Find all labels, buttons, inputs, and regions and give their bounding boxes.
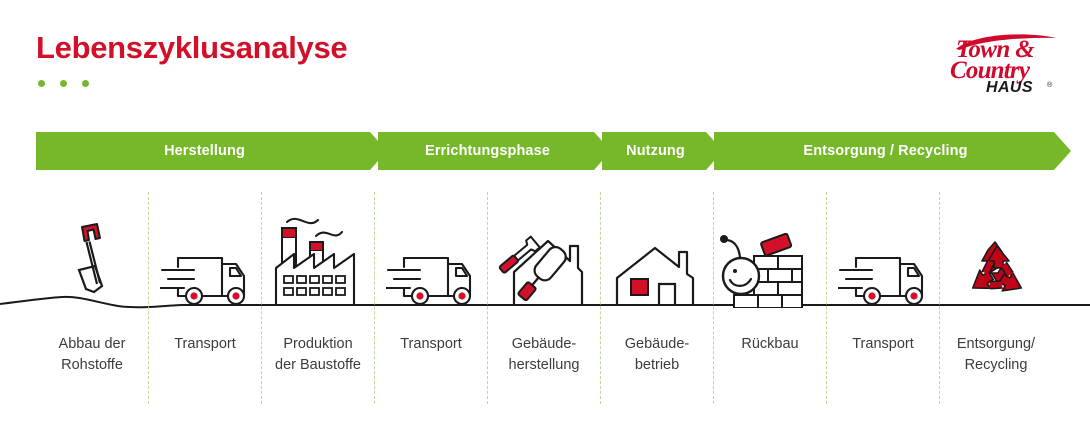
phase-banner-3[interactable]: Nutzung: [602, 132, 723, 170]
phase-banner-1[interactable]: Herstellung: [36, 132, 387, 170]
phase-banner-arrow-tip: [1054, 132, 1071, 170]
construction-icon: [492, 222, 596, 308]
phase-banner-label: Errichtungsphase: [425, 143, 564, 159]
town-and-country-haus-logo: Town & Country HAUS ®: [950, 26, 1058, 98]
phase-banner-label: Nutzung: [626, 143, 699, 159]
stage-label-line-1: Produktion: [258, 334, 378, 355]
stage-label-line-2: Recycling: [936, 355, 1056, 376]
factory-icon: [268, 210, 372, 308]
recycling-icon: [958, 240, 1036, 308]
stage-label-line-1: Entsorgung/: [936, 334, 1056, 355]
stage-label-1: Abbau derRohstoffe: [32, 334, 152, 376]
stage-label-line-2: der Baustoffe: [258, 355, 378, 376]
stage-label-3: Produktionder Baustoffe: [258, 334, 378, 376]
logo-registered-mark: ®: [1047, 82, 1052, 89]
stage-label-8: Transport: [823, 334, 943, 355]
stage-label-2: Transport: [145, 334, 265, 355]
lifecycle-infographic: Lebenszyklusanalyse Town & Country HAUS …: [0, 0, 1090, 441]
stage-label-line-2: Rohstoffe: [32, 355, 152, 376]
logo-line-3: HAUS: [986, 79, 1033, 97]
phase-banner-row: HerstellungErrichtungsphaseNutzungEntsor…: [0, 132, 1090, 170]
stage-label-line-1: Rückbau: [710, 334, 830, 355]
title-dot-2: [60, 80, 67, 87]
phase-banner-2[interactable]: Errichtungsphase: [378, 132, 611, 170]
truck-icon: [386, 250, 486, 308]
stage-label-line-1: Abbau der: [32, 334, 152, 355]
stage-label-9: Entsorgung/Recycling: [936, 334, 1056, 376]
phase-banner-label: Entsorgung / Recycling: [803, 143, 981, 159]
title-dot-3: [82, 80, 89, 87]
stage-label-line-1: Transport: [823, 334, 943, 355]
shovel-icon: [46, 216, 138, 308]
page-title: Lebenszyklusanalyse: [36, 30, 347, 66]
stage-label-line-1: Gebäude-: [484, 334, 604, 355]
stage-label-7: Rückbau: [710, 334, 830, 355]
wrecking-ball-icon: [718, 232, 818, 308]
phase-banner-4[interactable]: Entsorgung / Recycling: [714, 132, 1071, 170]
stage-label-line-1: Transport: [371, 334, 491, 355]
stage-label-line-2: betrieb: [597, 355, 717, 376]
truck-icon: [160, 250, 260, 308]
title-dot-1: [38, 80, 45, 87]
stage-label-6: Gebäude-betrieb: [597, 334, 717, 376]
stage-label-5: Gebäude-herstellung: [484, 334, 604, 376]
stage-label-line-2: herstellung: [484, 355, 604, 376]
stage-label-4: Transport: [371, 334, 491, 355]
title-dot-group: [38, 80, 89, 87]
truck-icon: [838, 250, 938, 308]
stage-label-line-1: Gebäude-: [597, 334, 717, 355]
stage-divider-7: [826, 192, 827, 404]
house-icon: [613, 242, 705, 308]
stage-label-line-1: Transport: [145, 334, 265, 355]
phase-banner-label: Herstellung: [164, 143, 259, 159]
